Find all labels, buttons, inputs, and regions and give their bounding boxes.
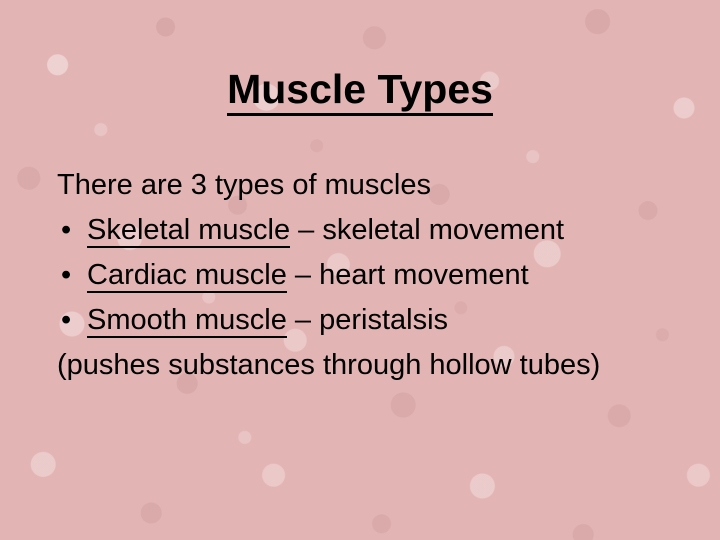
bullet-description-cardiac: heart movement <box>319 259 529 291</box>
slide: Muscle Types There are 3 types of muscle… <box>0 0 720 540</box>
bullet-term-cardiac: Cardiac muscle <box>87 259 287 293</box>
bullet-dot-icon: • <box>61 208 81 253</box>
bullet-separator-skeletal: – <box>290 214 322 246</box>
bullet-description-skeletal: skeletal movement <box>322 214 564 246</box>
slide-title-text: Muscle Types <box>227 66 493 116</box>
bullet-description-smooth: peristalsis <box>319 304 448 336</box>
slide-title: Muscle Types <box>0 66 720 112</box>
bullet-item-cardiac: • Cardiac muscle – heart movement <box>57 253 667 298</box>
bullet-separator-smooth: – <box>287 304 319 336</box>
bullet-term-skeletal: Skeletal muscle <box>87 214 290 248</box>
bullet-item-skeletal: • Skeletal muscle – skeletal movement <box>57 208 667 253</box>
bullet-item-smooth: • Smooth muscle – peristalsis <box>57 298 667 343</box>
body-intro-text: There are 3 types of muscles <box>57 169 431 201</box>
bullet-dot-icon: • <box>61 298 81 343</box>
body-intro-line: There are 3 types of muscles <box>57 163 667 208</box>
slide-content: Muscle Types There are 3 types of muscle… <box>0 0 720 540</box>
slide-body: There are 3 types of muscles • Skeletal … <box>57 163 667 388</box>
bullet-term-smooth: Smooth muscle <box>87 304 287 338</box>
body-note-line: (pushes substances through hollow tubes) <box>57 343 607 388</box>
bullet-dot-icon: • <box>61 253 81 298</box>
bullet-separator-cardiac: – <box>287 259 319 291</box>
body-note-text: (pushes substances through hollow tubes) <box>57 349 600 381</box>
